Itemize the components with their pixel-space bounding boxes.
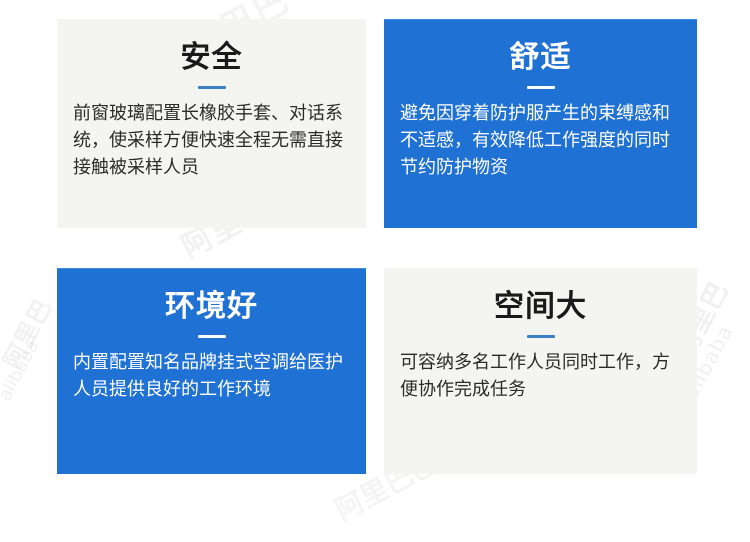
feature-card-body: 前窗玻璃配置长橡胶手套、对话系统，使采样方便快速全程无需直接接触被采样人员 [73, 100, 350, 181]
watermark-text: 阿里巴 [0, 291, 59, 374]
feature-card-title: 空间大 [494, 290, 587, 323]
watermark-text: alibaba [0, 336, 44, 404]
feature-card-row-top: 安全 前窗玻璃配置长橡胶手套、对话系统，使采样方便快速全程无需直接接触被采样人员… [57, 19, 697, 228]
feature-card-environment: 环境好 内置配置知名品牌挂式空调给医护人员提供良好的工作环境 [57, 268, 366, 474]
feature-card-title: 安全 [181, 41, 243, 74]
feature-card-grid: 安全 前窗玻璃配置长橡胶手套、对话系统，使采样方便快速全程无需直接接触被采样人员… [57, 19, 697, 474]
feature-card-comfort: 舒适 避免因穿着防护服产生的束缚感和不适感，有效降低工作强度的同时节约防护物资 [384, 19, 697, 228]
feature-card-body: 避免因穿着防护服产生的束缚感和不适感，有效降低工作强度的同时节约防护物资 [400, 100, 681, 181]
feature-card-safety: 安全 前窗玻璃配置长橡胶手套、对话系统，使采样方便快速全程无需直接接触被采样人员 [57, 19, 366, 228]
title-divider [198, 335, 226, 338]
feature-card-row-bottom: 环境好 内置配置知名品牌挂式空调给医护人员提供良好的工作环境 空间大 可容纳多名… [57, 268, 697, 474]
feature-card-space: 空间大 可容纳多名工作人员同时工作，方便协作完成任务 [384, 268, 697, 474]
feature-card-body: 内置配置知名品牌挂式空调给医护人员提供良好的工作环境 [73, 349, 350, 403]
feature-card-body: 可容纳多名工作人员同时工作，方便协作完成任务 [400, 349, 681, 403]
title-divider [527, 86, 555, 89]
title-divider [198, 86, 226, 89]
feature-card-title: 环境好 [165, 290, 258, 323]
title-divider [527, 335, 555, 338]
feature-card-title: 舒适 [510, 41, 572, 74]
